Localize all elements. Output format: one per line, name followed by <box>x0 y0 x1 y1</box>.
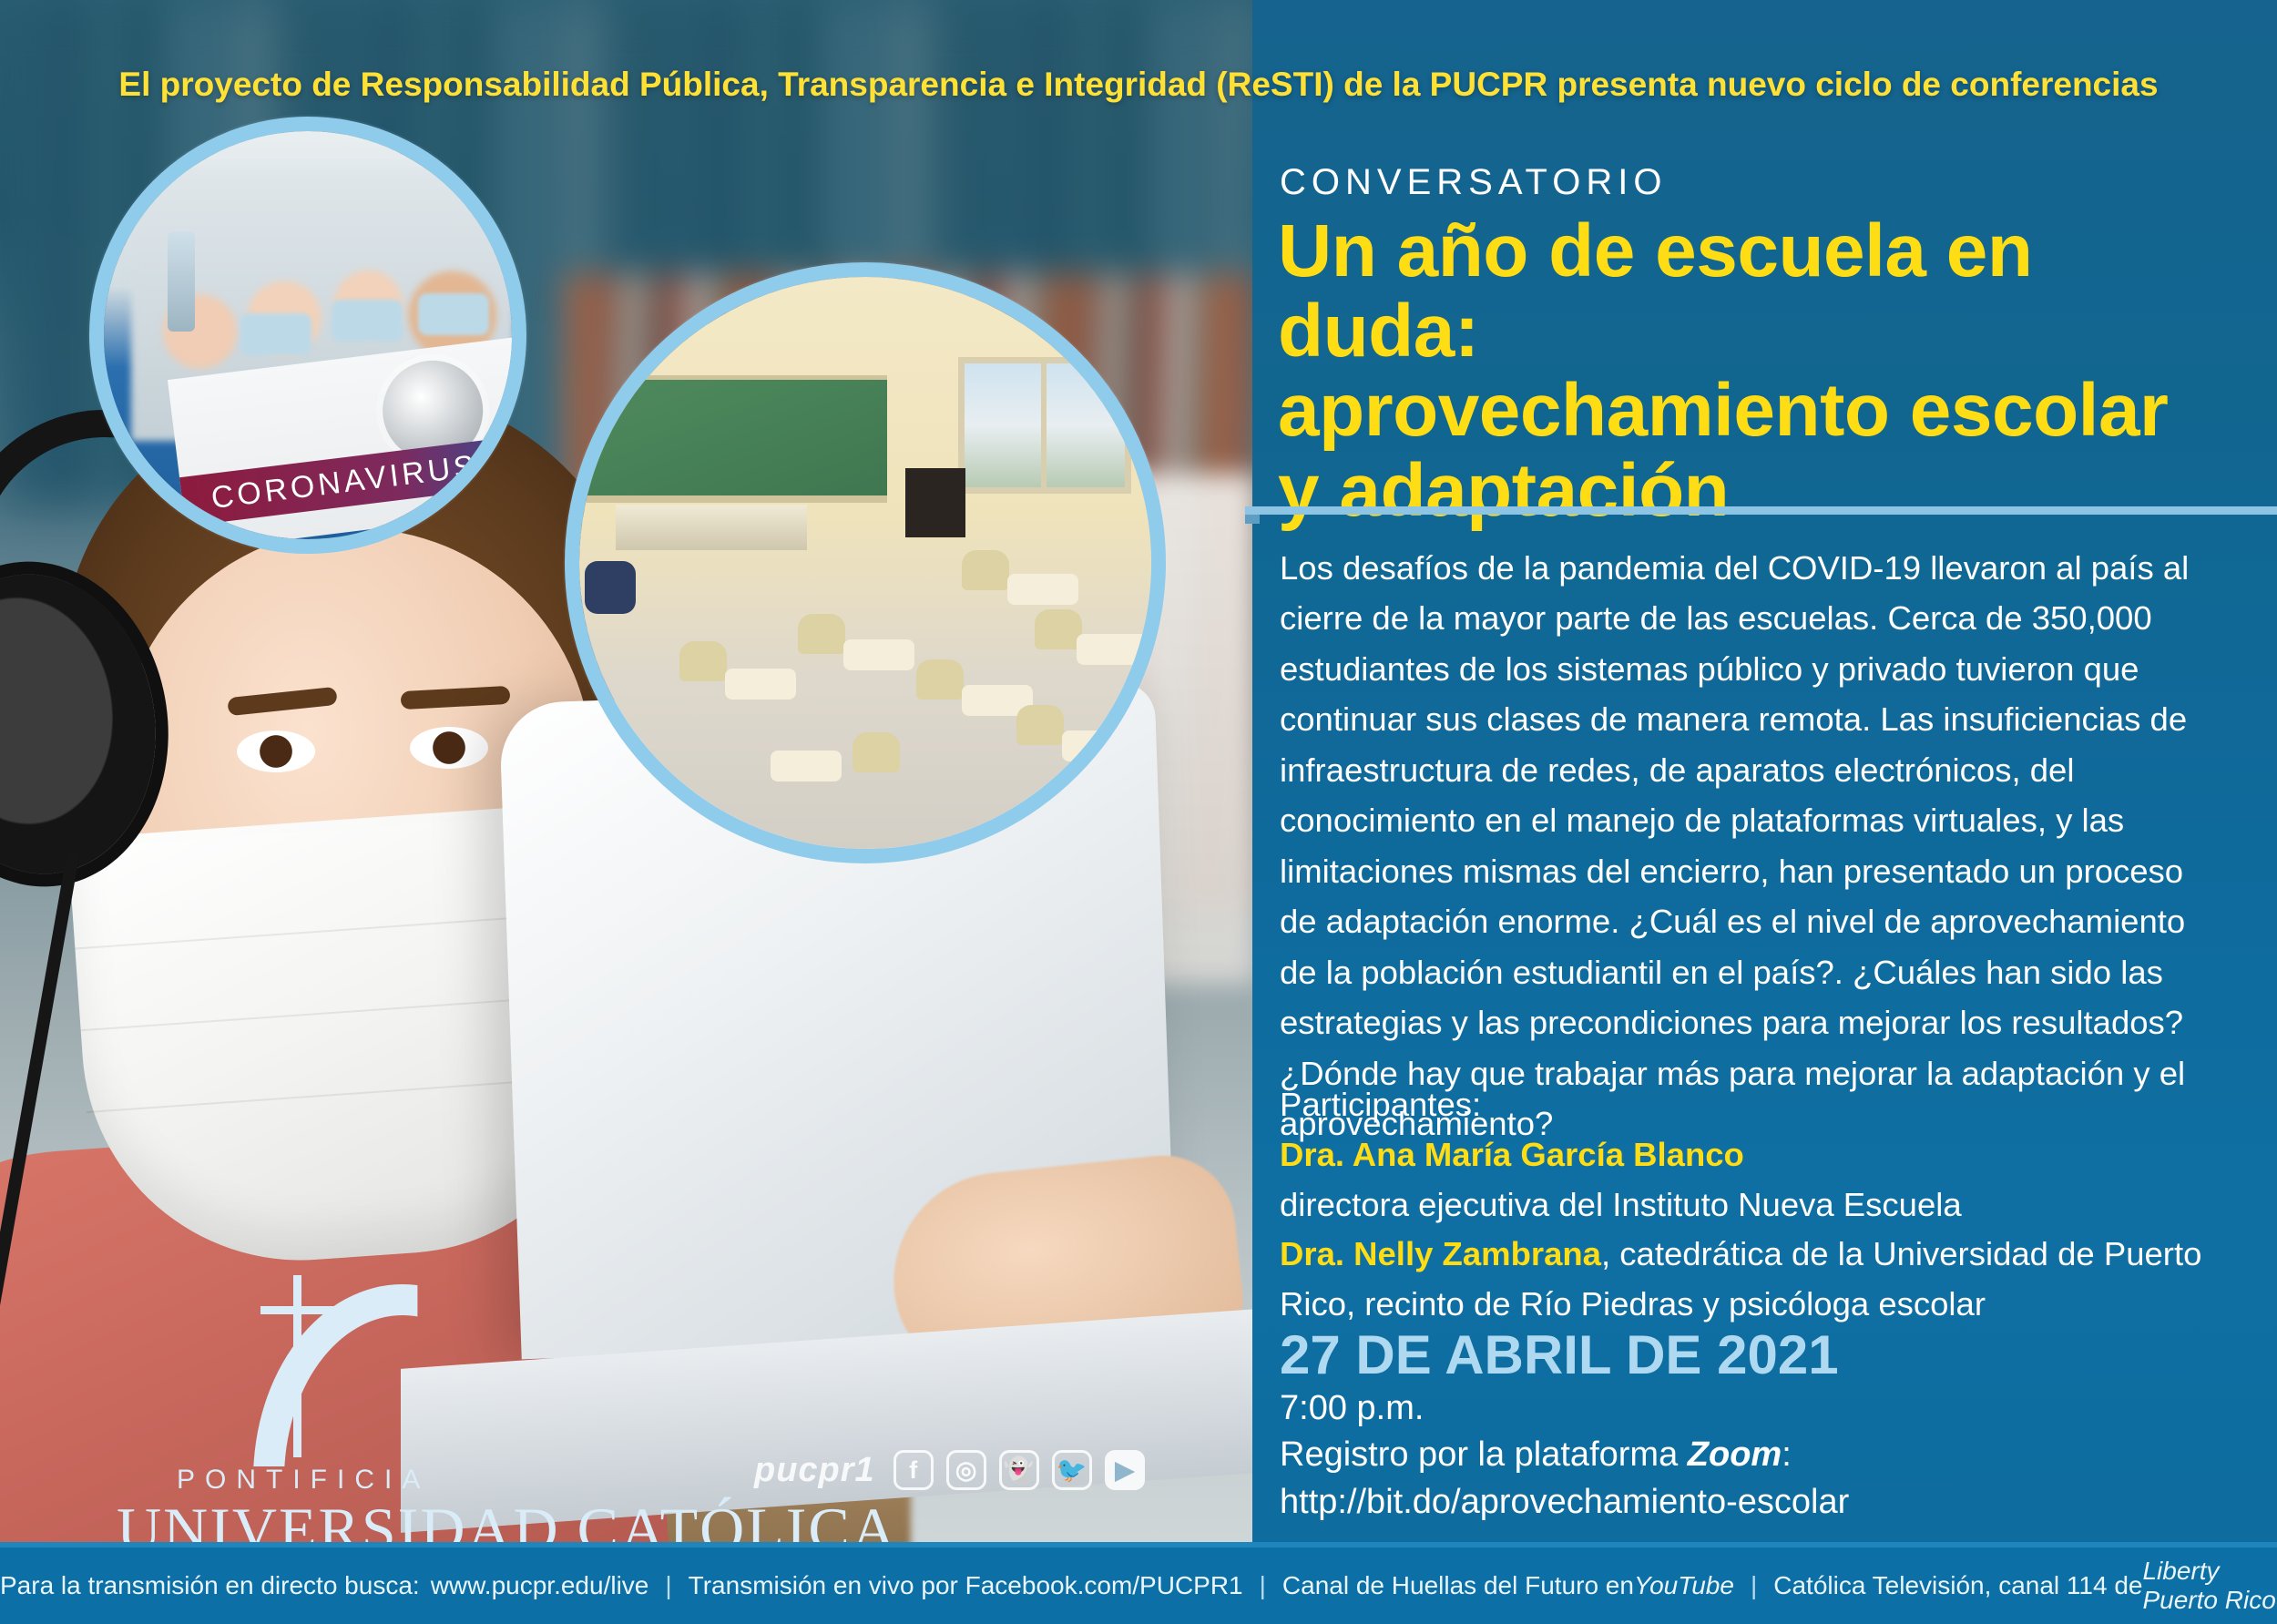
classroom-window <box>958 357 1131 494</box>
title-line-3: y adaptación <box>1278 451 2243 531</box>
footer-item-3-em: YouTube <box>1634 1571 1734 1600</box>
youtube-icon[interactable]: ▶ <box>1105 1450 1145 1490</box>
cross-icon-bar <box>260 1306 339 1314</box>
footer-item-4-em: Liberty Puerto Rico <box>2142 1557 2277 1615</box>
logo-pontificia: PONTIFICIA <box>177 1465 430 1496</box>
wall-cabinet <box>905 468 965 537</box>
circle-image-coronavirus: CORONAVIRUS <box>89 117 526 554</box>
announcement-banner: El proyecto de Responsabilidad Pública, … <box>0 66 2277 104</box>
footer-separator: | <box>1243 1571 1282 1600</box>
footer-item-1-url[interactable]: www.pucpr.edu/live <box>420 1571 649 1600</box>
participants-label: Participantes: <box>1280 1080 2227 1130</box>
social-media-row: pucpr1 f ◎ 👻 🐦 ▶ <box>754 1450 1145 1490</box>
right-content-panel: CONVERSATORIO Un año de escuela en duda:… <box>1252 0 2277 1542</box>
blue-chair <box>585 561 636 614</box>
title-line-1: Un año de escuela en duda: <box>1278 211 2243 371</box>
footer-separator: | <box>648 1571 688 1600</box>
circle-image-classroom <box>565 262 1166 863</box>
participant-1-name: Dra. Ana María García Blanco <box>1280 1130 2227 1180</box>
description-paragraph: Los desafíos de la pandemia del COVID-19… <box>1280 543 2209 1149</box>
social-handle: pucpr1 <box>754 1451 875 1490</box>
logo-universidad-catolica: UNIVERSIDAD CATÓLICA <box>117 1494 898 1542</box>
pucpr-logo: PONTIFICIA UNIVERSIDAD CATÓLICA DE PUERT… <box>117 1275 699 1530</box>
facebook-icon[interactable]: f <box>893 1450 934 1490</box>
registration-url[interactable]: http://bit.do/aprovechamiento-escolar <box>1280 1479 2227 1527</box>
surgical-mask-icon <box>418 293 489 335</box>
participant-2-name: Dra. Nelly Zambrana <box>1280 1235 1601 1272</box>
event-date: 27 DE ABRIL DE 2021 <box>1280 1326 2227 1385</box>
left-photo-collage: CORONAVIRUS <box>0 0 1252 1542</box>
surgical-mask-icon <box>240 313 311 355</box>
registration-platform: Zoom <box>1688 1435 1782 1474</box>
boy-eye-left <box>237 730 315 772</box>
footer-item-3-prefix: Canal de Huellas del Futuro en <box>1282 1571 1634 1600</box>
twitter-icon[interactable]: 🐦 <box>1052 1450 1092 1490</box>
participants-block: Participantes: Dra. Ana María García Bla… <box>1280 1080 2227 1330</box>
title-line-2: aprovechamiento escolar <box>1278 371 2243 451</box>
event-time: 7:00 p.m. <box>1280 1385 2227 1433</box>
participant-2: Dra. Nelly Zambrana, catedrática de la U… <box>1280 1230 2227 1330</box>
coronavirus-caption: CORONAVIRUS <box>180 448 480 520</box>
event-details-block: 27 DE ABRIL DE 2021 7:00 p.m. Registro p… <box>1280 1326 2227 1527</box>
test-tube <box>168 231 195 332</box>
footer-item-2[interactable]: Transmisión en vivo por Facebook.com/PUC… <box>689 1571 1243 1600</box>
chalkboard <box>587 375 887 503</box>
footer-bar: Para la transmisión en directo busca: ww… <box>0 1542 2277 1624</box>
poster-root: CORONAVIRUS <box>0 0 2277 1624</box>
surgical-mask-icon <box>332 300 403 342</box>
registration-line: Registro por la plataforma Zoom: <box>1280 1432 2227 1479</box>
footer-item-4-prefix: Católica Televisión, canal 114 de <box>1773 1571 2142 1600</box>
footer-links: Para la transmisión en directo busca: ww… <box>0 1557 2277 1615</box>
footer-item-1-label: Para la transmisión en directo busca: <box>0 1571 420 1600</box>
registration-prefix: Registro por la plataforma <box>1280 1435 1688 1474</box>
page-title: Un año de escuela en duda: aprovechamien… <box>1278 211 2243 531</box>
instagram-icon[interactable]: ◎ <box>946 1450 986 1490</box>
boy-eye-right <box>410 727 488 769</box>
cross-icon <box>293 1275 301 1457</box>
snapchat-icon[interactable]: 👻 <box>999 1450 1039 1490</box>
teacher-desk <box>616 505 807 550</box>
section-divider <box>1245 506 2277 515</box>
participant-1-role: directora ejecutiva del Instituto Nueva … <box>1280 1180 2227 1231</box>
arch-icon <box>253 1275 435 1466</box>
footer-separator: | <box>1734 1571 1773 1600</box>
event-kicker: CONVERSATORIO <box>1280 162 1667 203</box>
registration-suffix: : <box>1782 1435 1792 1474</box>
